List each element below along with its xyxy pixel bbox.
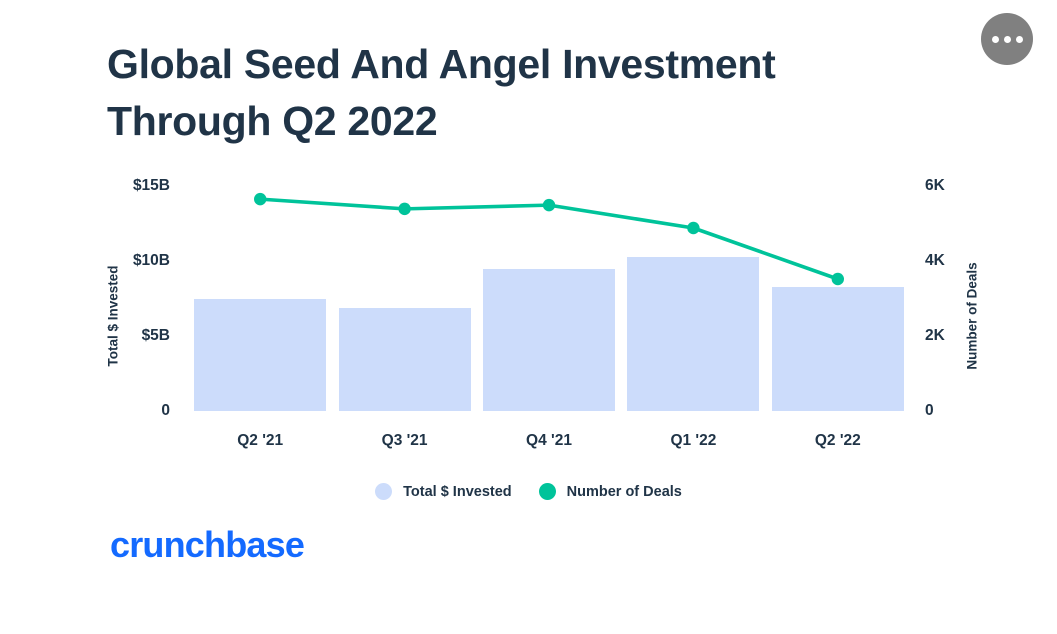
more-options-button[interactable] <box>981 13 1033 65</box>
line-point-Q321[interactable] <box>398 203 410 215</box>
x-axis-tick: Q2 '22 <box>766 432 910 450</box>
chart-title: Global Seed And Angel Investment Through… <box>107 36 897 150</box>
x-axis-tick: Q3 '21 <box>332 432 476 450</box>
y-axis-left-title: Total $ Invested <box>106 265 121 366</box>
menu-dot-icon <box>992 36 999 43</box>
line-series-svg <box>128 146 970 451</box>
line-point-Q221[interactable] <box>254 193 266 205</box>
line-series <box>188 186 910 411</box>
menu-dot-icon <box>1004 36 1011 43</box>
legend-swatch-icon <box>539 483 556 500</box>
legend-swatch-icon <box>375 483 392 500</box>
legend-item[interactable]: Total $ Invested <box>375 483 512 500</box>
line-point-Q122[interactable] <box>687 222 699 234</box>
legend-label: Total $ Invested <box>403 484 512 500</box>
x-axis-labels: Q2 '21Q3 '21Q4 '21Q1 '22Q2 '22 <box>188 432 910 450</box>
menu-dot-icon <box>1016 36 1023 43</box>
x-axis-tick: Q4 '21 <box>477 432 621 450</box>
line-point-Q222[interactable] <box>832 273 844 285</box>
chart-page: Global Seed And Angel Investment Through… <box>0 0 1057 634</box>
plot-area <box>188 186 910 411</box>
x-axis-tick: Q1 '22 <box>621 432 765 450</box>
line-point-Q421[interactable] <box>543 199 555 211</box>
chart-legend: Total $ InvestedNumber of Deals <box>0 483 1057 500</box>
legend-label: Number of Deals <box>567 484 682 500</box>
legend-item[interactable]: Number of Deals <box>539 483 682 500</box>
crunchbase-logo[interactable]: crunchbase <box>110 524 304 566</box>
x-axis-tick: Q2 '21 <box>188 432 332 450</box>
